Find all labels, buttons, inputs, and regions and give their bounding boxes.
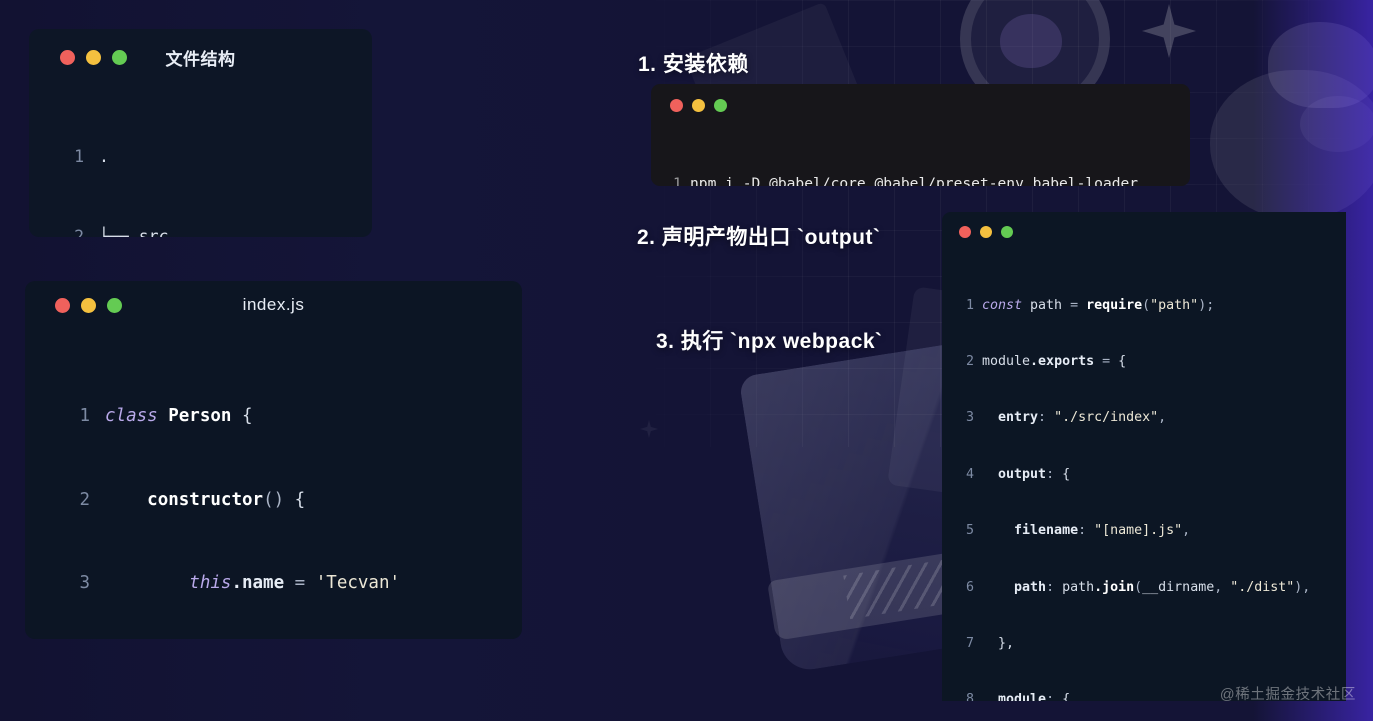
line-number: 7 bbox=[955, 635, 974, 654]
npm-terminal-title-bar bbox=[651, 84, 1190, 126]
window-controls[interactable] bbox=[670, 99, 727, 112]
close-dot-icon[interactable] bbox=[55, 298, 70, 313]
line-text: . bbox=[99, 147, 109, 166]
close-dot-icon[interactable] bbox=[670, 99, 683, 112]
line-number: 1 bbox=[79, 403, 90, 431]
line-number: 2 bbox=[955, 353, 974, 372]
window-controls[interactable] bbox=[55, 298, 122, 313]
code-line: 7 }, bbox=[955, 635, 1346, 654]
line-text: npm i -D @babel/core @babel/preset-env b… bbox=[690, 175, 1138, 186]
maximize-dot-icon[interactable] bbox=[1001, 226, 1013, 238]
minimize-dot-icon[interactable] bbox=[692, 99, 705, 112]
line-number: 1 bbox=[673, 174, 681, 186]
index-js-title-bar: index.js bbox=[25, 281, 522, 329]
maximize-dot-icon[interactable] bbox=[112, 50, 127, 65]
file-structure-code: 1. 2├── src 3│ └── index.js 4└── webpack… bbox=[29, 85, 372, 237]
code-line: 1npm i -D @babel/core @babel/preset-env … bbox=[673, 174, 1190, 186]
line-number: 3 bbox=[79, 570, 90, 598]
astronaut-visor-icon bbox=[1000, 14, 1062, 68]
code-line: 5 filename: "[name].js", bbox=[955, 522, 1346, 541]
line-number: 2 bbox=[79, 487, 90, 515]
line-number: 5 bbox=[955, 522, 974, 541]
line-number: 1 bbox=[70, 144, 84, 171]
code-line: 3 entry: "./src/index", bbox=[955, 409, 1346, 428]
step-3-heading: 3. 执行 `npx webpack` bbox=[656, 325, 883, 355]
code-line: 4 output: { bbox=[955, 466, 1346, 485]
line-number: 1 bbox=[955, 297, 974, 316]
step-1-heading: 1. 安装依赖 bbox=[638, 48, 749, 78]
code-line: 2├── src bbox=[70, 224, 372, 238]
minimize-dot-icon[interactable] bbox=[81, 298, 96, 313]
code-line: 1class Person { bbox=[79, 403, 522, 431]
npm-terminal-code: 1npm i -D @babel/core @babel/preset-env … bbox=[651, 126, 1190, 186]
index-js-card: index.js 1class Person { 2 constructor()… bbox=[25, 281, 522, 639]
minimize-dot-icon[interactable] bbox=[980, 226, 992, 238]
line-number: 3 bbox=[955, 409, 974, 428]
line-number: 2 bbox=[70, 224, 84, 238]
npm-install-terminal-card: 1npm i -D @babel/core @babel/preset-env … bbox=[651, 84, 1190, 186]
file-structure-title-bar: 文件结构 bbox=[29, 29, 372, 85]
line-text: ├── src bbox=[99, 227, 169, 238]
webpack-config-card: 1const path = require("path"); 2module.e… bbox=[942, 212, 1346, 701]
watermark: @稀土掘金技术社区 bbox=[1220, 683, 1356, 704]
close-dot-icon[interactable] bbox=[60, 50, 75, 65]
window-controls[interactable] bbox=[60, 50, 127, 65]
code-line: 2module.exports = { bbox=[955, 353, 1346, 372]
webpack-config-code: 1const path = require("path"); 2module.e… bbox=[942, 252, 1346, 701]
line-number: 4 bbox=[955, 466, 974, 485]
code-line: 6 path: path.join(__dirname, "./dist"), bbox=[955, 579, 1346, 598]
code-line: 3 this.name = 'Tecvan' bbox=[79, 570, 522, 598]
window-controls[interactable] bbox=[959, 226, 1013, 238]
minimize-dot-icon[interactable] bbox=[86, 50, 101, 65]
line-number: 6 bbox=[955, 579, 974, 598]
line-number: 8 bbox=[955, 691, 974, 701]
code-line: 1. bbox=[70, 144, 372, 171]
code-line: 2 constructor() { bbox=[79, 487, 522, 515]
close-dot-icon[interactable] bbox=[959, 226, 971, 238]
code-line: 1const path = require("path"); bbox=[955, 297, 1346, 316]
file-structure-card: 文件结构 1. 2├── src 3│ └── index.js 4└── we… bbox=[29, 29, 372, 237]
maximize-dot-icon[interactable] bbox=[107, 298, 122, 313]
index-js-code: 1class Person { 2 constructor() { 3 this… bbox=[25, 329, 522, 639]
maximize-dot-icon[interactable] bbox=[714, 99, 727, 112]
step-2-heading: 2. 声明产物出口 `output` bbox=[637, 221, 880, 251]
webpack-config-title-bar bbox=[942, 212, 1346, 252]
